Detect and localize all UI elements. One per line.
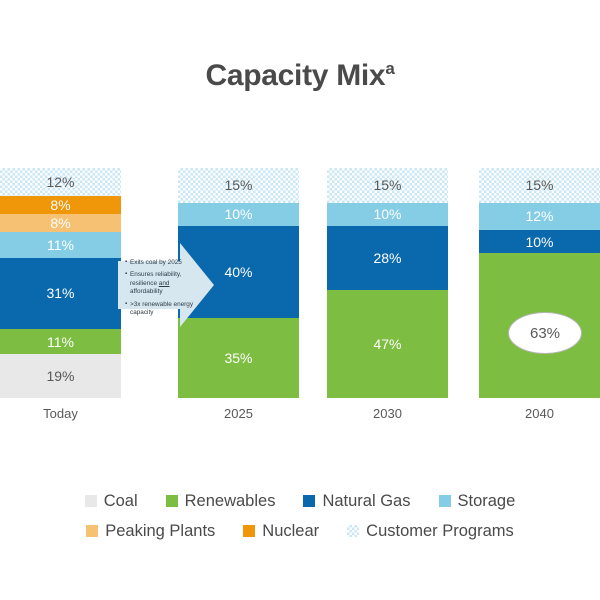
legend-row-1: Coal Renewables Natural Gas Storage xyxy=(0,486,600,516)
bar-segment-2040-customer-programs: 15% xyxy=(479,168,600,203)
title-text: Capacity Mix xyxy=(206,59,386,92)
bar-segment-2030-storage: 10% xyxy=(327,203,448,226)
title-superscript: a xyxy=(385,59,394,78)
legend-label-coal: Coal xyxy=(104,492,138,511)
bar-label-2025-renewables: 35% xyxy=(224,351,252,365)
x-axis-label-today: Today xyxy=(0,406,121,421)
bar-label-2030-natural-gas: 28% xyxy=(373,251,401,265)
legend-label-customer-programs: Customer Programs xyxy=(366,522,514,541)
arrow-bullet-3-text: >3x renewable energy capacity xyxy=(130,301,193,316)
arrow-bullet-2-post: affordability xyxy=(130,288,163,295)
bar-label-2040-natural-gas: 10% xyxy=(525,235,553,249)
arrow-callout-text: Exits coal by 2025 Ensures reliability, … xyxy=(125,259,197,322)
legend-label-peaking-plants: Peaking Plants xyxy=(105,522,215,541)
legend-swatch-nuclear-icon xyxy=(243,525,255,537)
arrow-bullet-2-underline: and xyxy=(159,280,170,287)
legend-swatch-renewables-icon xyxy=(166,495,178,507)
bar-segment-today-renewables: 11% xyxy=(0,329,121,354)
bar-label-today-renewables: 11% xyxy=(47,335,74,349)
legend-item-coal[interactable]: Coal xyxy=(85,492,138,511)
bar-segment-2030-natural-gas: 28% xyxy=(327,226,448,290)
bar-label-today-storage: 11% xyxy=(47,238,74,252)
bar-segment-today-storage: 11% xyxy=(0,232,121,257)
x-axis-label-2040: 2040 xyxy=(479,406,600,421)
plot-area: 12% 8% 8% 11% 31% 11% 19% 15% xyxy=(0,168,600,398)
legend: Coal Renewables Natural Gas Storage Peak… xyxy=(0,486,600,546)
legend-label-renewables: Renewables xyxy=(185,492,276,511)
oval-callout-label: 63% xyxy=(530,325,560,342)
arrow-bullet-1: Exits coal by 2025 xyxy=(125,259,197,267)
oval-callout-2040-renewables: 63% xyxy=(508,312,582,354)
bar-segment-today-natural-gas: 31% xyxy=(0,258,121,329)
capacity-mix-chart: Capacity Mixa 12% 8% 8% 11% 31% 11% xyxy=(0,0,600,600)
legend-item-storage[interactable]: Storage xyxy=(439,492,516,511)
legend-item-peaking-plants[interactable]: Peaking Plants xyxy=(86,522,215,541)
bar-segment-2030-renewables: 47% xyxy=(327,290,448,398)
legend-label-storage: Storage xyxy=(458,492,516,511)
arrow-bullet-3: >3x renewable energy capacity xyxy=(125,301,197,318)
bar-segment-today-coal: 19% xyxy=(0,354,121,398)
legend-item-nuclear[interactable]: Nuclear xyxy=(243,522,319,541)
bar-label-2025-storage: 10% xyxy=(224,207,252,221)
bar-label-2030-customer-programs: 15% xyxy=(373,178,401,192)
bar-label-today-peaking-plants: 8% xyxy=(50,216,70,230)
bar-label-2025-natural-gas: 40% xyxy=(224,265,252,279)
legend-label-nuclear: Nuclear xyxy=(262,522,319,541)
bar-column-2040: 15% 12% 10% 63% 63% xyxy=(479,168,600,398)
bar-segment-today-nuclear: 8% xyxy=(0,196,121,214)
bar-segment-2040-natural-gas: 10% xyxy=(479,230,600,253)
bar-segment-2030-customer-programs: 15% xyxy=(327,168,448,203)
bar-label-today-coal: 19% xyxy=(46,369,74,383)
x-axis-label-2030: 2030 xyxy=(327,406,448,421)
legend-item-renewables[interactable]: Renewables xyxy=(166,492,276,511)
bar-label-2030-renewables: 47% xyxy=(373,337,401,351)
bar-label-today-nuclear: 8% xyxy=(50,198,70,212)
bar-segment-2040-storage: 12% xyxy=(479,203,600,231)
legend-swatch-storage-icon xyxy=(439,495,451,507)
arrow-bullet-1-text: Exits coal by 2025 xyxy=(130,259,182,266)
legend-swatch-coal-icon xyxy=(85,495,97,507)
bar-segment-2025-storage: 10% xyxy=(178,203,299,226)
legend-row-2: Peaking Plants Nuclear Customer Programs xyxy=(0,516,600,546)
legend-swatch-peaking-plants-icon xyxy=(86,525,98,537)
bar-label-today-natural-gas: 31% xyxy=(46,286,74,300)
arrow-bullet-2: Ensures reliability, resilience and affo… xyxy=(125,271,197,296)
legend-label-natural-gas: Natural Gas xyxy=(322,492,410,511)
legend-swatch-natural-gas-icon xyxy=(303,495,315,507)
bar-label-2040-storage: 12% xyxy=(525,209,553,223)
bar-label-today-customer-programs: 12% xyxy=(46,175,74,189)
page-title: Capacity Mixa xyxy=(0,59,600,93)
bar-label-2030-storage: 10% xyxy=(373,207,401,221)
legend-swatch-customer-programs-icon xyxy=(347,525,359,537)
bar-column-2030: 15% 10% 28% 47% xyxy=(327,168,448,398)
bar-segment-today-peaking-plants: 8% xyxy=(0,214,121,232)
bar-label-2025-customer-programs: 15% xyxy=(224,178,252,192)
bar-segment-2025-customer-programs: 15% xyxy=(178,168,299,203)
legend-item-customer-programs[interactable]: Customer Programs xyxy=(347,522,514,541)
bar-label-2040-customer-programs: 15% xyxy=(525,178,553,192)
x-axis-label-2025: 2025 xyxy=(178,406,299,421)
bar-segment-today-customer-programs: 12% xyxy=(0,168,121,196)
arrow-bullet-2-pre: Ensures reliability, resilience xyxy=(130,271,181,286)
bar-column-today: 12% 8% 8% 11% 31% 11% 19% xyxy=(0,168,121,398)
arrow-callout: Exits coal by 2025 Ensures reliability, … xyxy=(118,243,214,343)
legend-item-natural-gas[interactable]: Natural Gas xyxy=(303,492,410,511)
